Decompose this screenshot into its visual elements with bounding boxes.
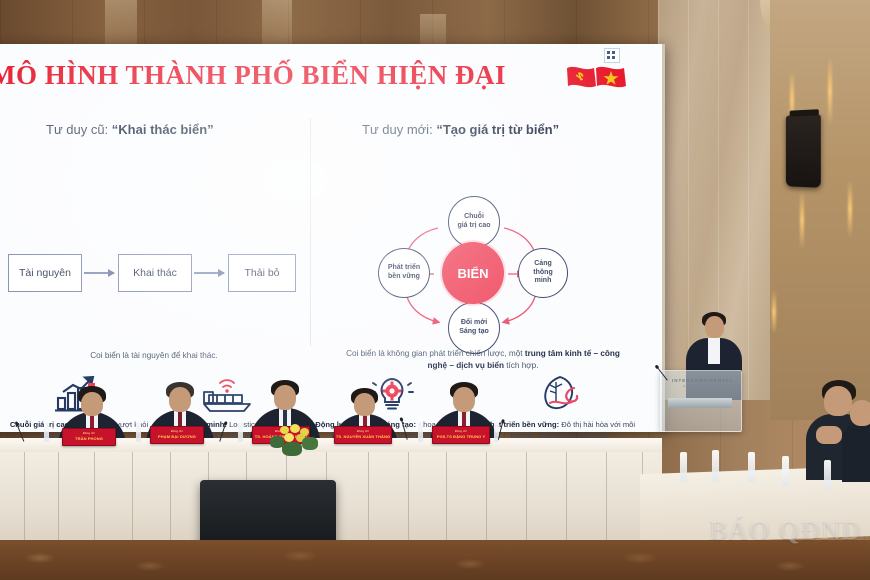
accent-light-3 [800, 190, 804, 250]
cycle-node-bottom: Đổi mớiSáng tạo [448, 302, 500, 354]
conference-photo-scene: MÔ HÌNH THÀNH PHỐ BIỂN HIỆN ĐẠI Tư duy c… [0, 0, 870, 580]
cycle-center-bien: BIỂN [442, 242, 504, 304]
audience-bottle-3 [748, 452, 755, 482]
left-heading-quote: “Khai thác biển” [112, 122, 214, 137]
nameplate-1-name: TRẦN PHONG [63, 436, 115, 441]
wall-glass-reflection-c [420, 14, 446, 46]
accent-light-2 [828, 56, 832, 126]
table-flower-arrangement [262, 424, 326, 460]
right-column-caption: Coi biển là không gian phát triển chiến … [338, 348, 628, 372]
photo-watermark: BÁO QĐND [709, 515, 862, 546]
flow-box-thai-bo: Thải bỏ [228, 254, 296, 292]
left-heading-prefix: Tư duy cũ: [46, 122, 108, 137]
accent-light-5 [772, 290, 776, 334]
water-bottle-4 [418, 418, 423, 442]
value-cycle-diagram: Chuỗigiá trị cao Cảngthôngminh Đổi mớiSá… [376, 204, 566, 344]
audience-hands [816, 426, 842, 444]
audience-bottle-5 [824, 460, 831, 490]
water-bottle-2 [136, 418, 141, 442]
water-bottle-3 [238, 418, 243, 442]
nameplate-5: Đồng chí PGS.TS ĐẶNG TRUNG Ý [432, 426, 490, 444]
pillar-4: Phát triển bền vững: Đô thị hài hòa với … [476, 374, 644, 442]
nameplate-1-prefix: Đồng chí [63, 431, 115, 435]
audience-bottle-4 [782, 456, 789, 486]
flow-label-1: Tài nguyên [19, 267, 71, 279]
nameplate-2-prefix: Đồng chí [151, 429, 203, 433]
audience-person-2 [842, 400, 870, 480]
carpet-floor [0, 540, 870, 580]
cycle-node-top: Chuỗigiá trị cao [448, 196, 500, 248]
far-wall-panel [770, 0, 870, 420]
wall-glass-reflection-a [105, 0, 137, 46]
nameplate-4-prefix: Đồng chí [335, 429, 391, 433]
audience-bottle-1 [680, 452, 687, 482]
right-caption-part2: tích hợp. [504, 361, 539, 370]
nameplate-4-name: TS. NGUYỄN XUÂN THẮNG [335, 434, 391, 439]
audience-bottle-2 [712, 450, 719, 482]
cycle-node-right: Cảngthôngminh [518, 248, 568, 298]
right-caption-part1: Coi biển là không gian phát triển chiến … [346, 349, 525, 358]
slide-title: MÔ HÌNH THÀNH PHỐ BIỂN HIỆN ĐẠI [0, 60, 590, 91]
left-column-heading: Tư duy cũ: “Khai thác biển” [46, 122, 214, 137]
accent-light-4 [848, 180, 852, 238]
slide-corner-logo [604, 48, 620, 63]
nameplate-2-name: PHẠM ĐẠI DƯƠNG [151, 434, 203, 439]
cycle-node-left: Phát triểnbền vững [378, 248, 430, 298]
flow-label-3: Thải bỏ [244, 267, 279, 279]
leaf-wave-icon [534, 374, 586, 414]
right-heading-quote: “Tạo giá trị từ biển” [436, 122, 559, 137]
nameplate-1: Đồng chí TRẦN PHONG [62, 428, 116, 446]
flags-graphic [566, 62, 628, 96]
flow-arrow-1 [84, 272, 114, 274]
nameplate-5-name: PGS.TS ĐẶNG TRUNG Ý [433, 434, 489, 439]
flow-box-tai-nguyen: Tài nguyên [8, 254, 82, 292]
lectern-brand-sub: HOTELS & RESORTS [672, 385, 730, 388]
nameplate-5-prefix: Đồng chí [433, 429, 489, 433]
carpet-pattern [0, 540, 870, 580]
flow-label-2: Khai thác [133, 267, 177, 279]
projection-screen: MÔ HÌNH THÀNH PHỐ BIỂN HIỆN ĐẠI Tư duy c… [0, 44, 665, 432]
slide-column-divider [310, 118, 311, 346]
lectern-base [668, 398, 732, 408]
wall-glass-reflection-b [262, 0, 292, 46]
flow-arrow-2 [194, 272, 224, 274]
left-column-caption: Coi biển là tài nguyên để khai thác. [34, 350, 274, 362]
water-bottle-1 [44, 420, 49, 442]
wall-mounted-loudspeaker [786, 114, 821, 188]
flow-box-khai-thac: Khai thác [118, 254, 192, 292]
nameplate-4: Đồng chí TS. NGUYỄN XUÂN THẮNG [334, 426, 392, 444]
right-heading-prefix: Tư duy mới: [362, 122, 433, 137]
right-column-heading: Tư duy mới: “Tạo giá trị từ biển” [362, 122, 559, 137]
nameplate-2: Đồng chí PHẠM ĐẠI DƯƠNG [150, 426, 204, 444]
lectern-brand: INTERCONTINENTAL [672, 378, 730, 383]
